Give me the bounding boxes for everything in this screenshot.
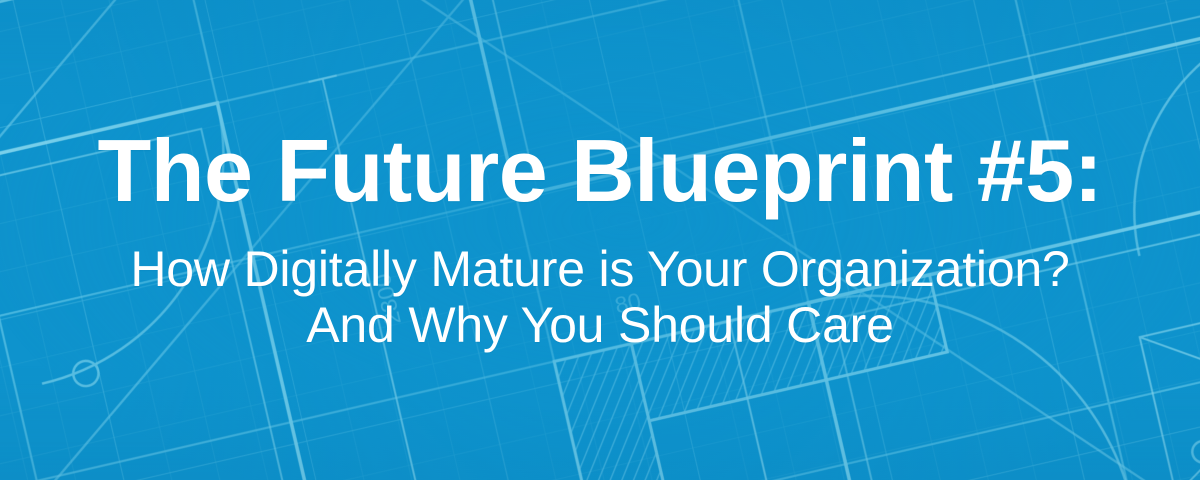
page-subtitle-line-2: And Why You Should Care — [130, 297, 1069, 353]
page-title: The Future Blueprint #5: — [98, 127, 1103, 215]
hero-text-block: The Future Blueprint #5: How Digitally M… — [0, 0, 1200, 480]
page-subtitle-line-1: How Digitally Mature is Your Organizatio… — [130, 241, 1069, 297]
page-subtitle: How Digitally Mature is Your Organizatio… — [130, 241, 1069, 353]
blueprint-hero-banner: 1400 2415 4M 2 2300 80 3500 R50 1200 241… — [0, 0, 1200, 480]
